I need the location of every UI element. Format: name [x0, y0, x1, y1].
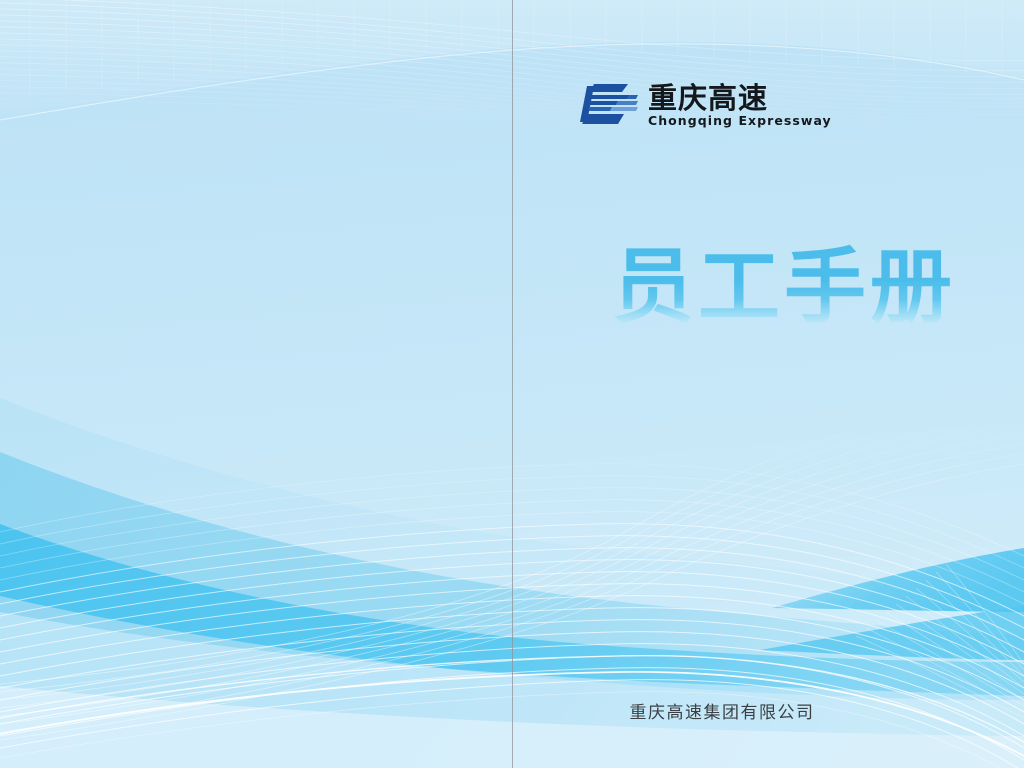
brand-name-en: Chongqing Expressway	[648, 114, 832, 128]
brand-name-cn: 重庆高速	[648, 83, 832, 113]
cover-page: 重庆高速 Chongqing Expressway 员工手册 重庆高速集团有限公…	[0, 0, 1024, 768]
page-title: 员工手册	[612, 242, 956, 334]
company-name: 重庆高速集团有限公司	[512, 702, 932, 724]
center-fold-line	[512, 0, 513, 768]
speed-lines-logo-icon	[578, 82, 640, 126]
brand-logo: 重庆高速 Chongqing Expressway	[578, 82, 832, 128]
brand-wordmark: 重庆高速 Chongqing Expressway	[648, 82, 832, 128]
